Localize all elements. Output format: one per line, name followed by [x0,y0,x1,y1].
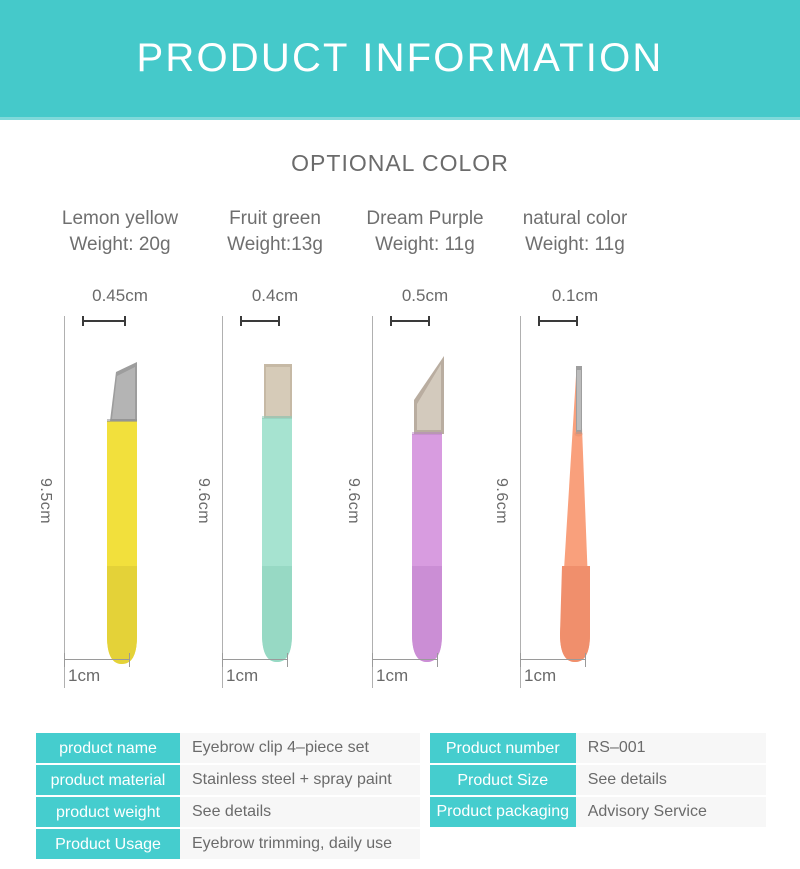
tweezer-natural-color [532,316,612,688]
length-ruler-line [64,316,65,688]
variant-drawing: 9.6cm 1cm [200,308,350,708]
color-variant-dream-purple: Dream Purple Weight: 11g 0.5cm 9.6cm [350,206,500,706]
color-variant-natural-color: natural color Weight: 11g 0.1cm 9.6cm [500,206,650,706]
variant-name: Fruit green [229,208,321,229]
tip-width-label: 0.4cm [200,286,350,306]
measure-cap-right [129,653,130,667]
measure-cap-left [520,653,521,667]
spec-key: product material [36,765,180,795]
tweezer-dream-purple [384,316,464,688]
length-label: 9.6cm [492,478,510,524]
base-width-label: 1cm [376,666,408,686]
spec-column-right: Product number RS–001 Product Size See d… [430,733,766,861]
variant-label-block: natural color Weight: 11g [500,206,650,258]
measure-cap-left [222,653,223,667]
spec-key: Product Usage [36,829,180,859]
variant-name: Lemon yellow [62,208,178,229]
color-variant-lemon-yellow: Lemon yellow Weight: 20g 0.45cm 9.5cm [40,206,200,706]
tip-width-label: 0.45cm [40,286,200,306]
page-title: PRODUCT INFORMATION [137,36,664,81]
variant-drawing: 9.5cm 1cm [40,308,200,708]
spec-value: Eyebrow trimming, daily use [180,829,420,859]
length-ruler-line [222,316,223,688]
color-variants-row: Lemon yellow Weight: 20g 0.45cm 9.5cm [40,206,760,706]
table-row: Product Size See details [430,765,766,795]
length-label: 9.6cm [344,478,362,524]
measure-cap-left [372,653,373,667]
length-ruler-line [520,316,521,688]
variant-label-block: Lemon yellow Weight: 20g [40,206,200,258]
table-row: product name Eyebrow clip 4–piece set [36,733,420,763]
section-heading-optional-color: OPTIONAL COLOR [0,150,800,177]
variant-label-block: Fruit green Weight:13g [200,206,350,258]
color-variant-fruit-green: Fruit green Weight:13g 0.4cm 9.6cm [200,206,350,706]
table-row: Product Usage Eyebrow trimming, daily us… [36,829,420,859]
variant-drawing: 9.6cm 1cm [350,308,500,708]
variant-weight: Weight: 20g [40,232,200,258]
measure-bar [372,659,438,660]
variant-weight: Weight: 11g [350,232,500,258]
measure-bar [222,659,288,660]
spec-value: See details [180,797,420,827]
table-row: Product packaging Advisory Service [430,797,766,827]
table-row: Product number RS–001 [430,733,766,763]
spec-value: RS–001 [576,733,766,763]
spec-key: Product Size [430,765,576,795]
tip-width-label: 0.5cm [350,286,500,306]
spec-value: Advisory Service [576,797,766,827]
variant-name: Dream Purple [366,208,483,229]
length-ruler-line [372,316,373,688]
base-width-label: 1cm [524,666,556,686]
page-header-banner: PRODUCT INFORMATION [0,0,800,117]
header-underline [0,117,800,120]
variant-weight: Weight:13g [200,232,350,258]
variant-drawing: 9.6cm 1cm [500,308,650,708]
table-row: product weight See details [36,797,420,827]
base-width-label: 1cm [226,666,258,686]
measure-cap-right [437,653,438,667]
spec-key: product name [36,733,180,763]
length-label: 9.6cm [194,478,212,524]
tip-width-label: 0.1cm [500,286,650,306]
variant-label-block: Dream Purple Weight: 11g [350,206,500,258]
spec-value: Stainless steel + spray paint [180,765,420,795]
measure-bar [64,659,130,660]
spec-key: Product packaging [430,797,576,827]
specification-table: product name Eyebrow clip 4–piece set pr… [36,733,766,861]
measure-cap-left [64,653,65,667]
measure-cap-right [287,653,288,667]
spec-key: product weight [36,797,180,827]
product-information-page: PRODUCT INFORMATION OPTIONAL COLOR Lemon… [0,0,800,869]
base-width-label: 1cm [68,666,100,686]
variant-name: natural color [523,208,628,229]
measure-cap-right [585,653,586,667]
spec-key: Product number [430,733,576,763]
measure-bar [520,659,586,660]
spec-column-left: product name Eyebrow clip 4–piece set pr… [36,733,420,861]
tweezer-fruit-green [234,316,314,688]
spec-value: See details [576,765,766,795]
table-row: product material Stainless steel + spray… [36,765,420,795]
variant-weight: Weight: 11g [500,232,650,258]
length-label: 9.5cm [36,478,54,524]
spec-value: Eyebrow clip 4–piece set [180,733,420,763]
tweezer-lemon-yellow [76,316,156,688]
